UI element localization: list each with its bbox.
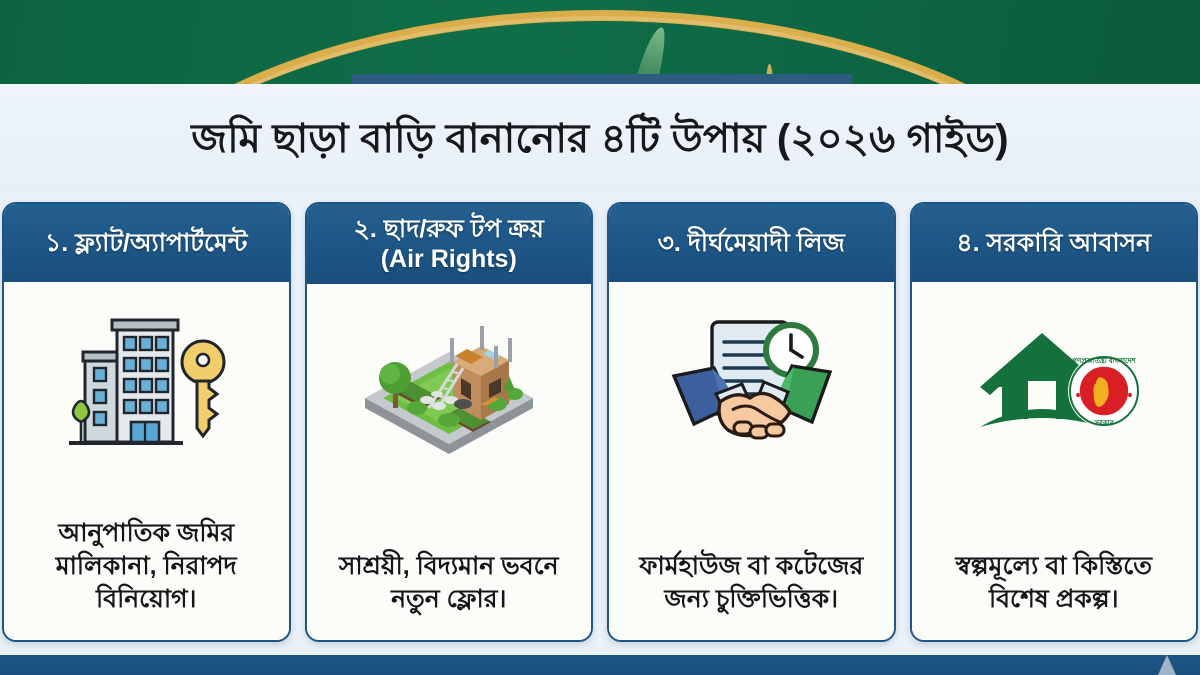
card-header: ৩. দীর্ঘমেয়াদী লিজ (609, 204, 894, 282)
card-body: আনুপাতিক জমির মালিকানা, নিরাপদ বিনিয়োগ। (4, 282, 289, 640)
card-heading: ৪. সরকারি আবাসন (956, 228, 1151, 258)
card-long-term-lease[interactable]: ৩. দীর্ঘমেয়াদী লিজ (607, 202, 896, 642)
footer-bar (0, 655, 1200, 675)
card-description: ফার্মহাউজ বা কটেজের জন্য চুক্তিভিত্তিক। (619, 550, 884, 622)
card-body: ফার্মহাউজ বা কটেজের জন্য চুক্তিভিত্তিক। (609, 282, 894, 640)
card-government-housing[interactable]: ৪. সরকারি আবাসন (910, 202, 1199, 642)
card-body: গণপ্রজাতন্ত্রী বাংলাদেশ সরকার স্বল্পমূল্… (912, 282, 1197, 640)
handshake-contract-clock-icon (619, 302, 884, 467)
card-heading: ১. ফ্ল্যাট/অ্যাপার্টমেন্ট (45, 228, 247, 258)
card-flat-apartment[interactable]: ১. ফ্ল্যাট/অ্যাপার্টমেন্ট (2, 202, 291, 642)
card-rooftop-air-rights[interactable]: ২. ছাদ/রুফ টপ ক্রয় (Air Rights) (305, 202, 594, 642)
title-section: জমি ছাড়া বাড়ি বানানোর ৪টি উপায় (২০২৬ … (0, 84, 1200, 194)
card-header: ১. ফ্ল্যাট/অ্যাপার্টমেন্ট (4, 204, 289, 282)
card-heading: ২. ছাদ/রুফ টপ ক্রয় (354, 215, 544, 243)
seal-bottom-text: সরকার (1093, 419, 1114, 427)
apartment-building-key-icon (14, 302, 279, 467)
government-housing-seal-icon: গণপ্রজাতন্ত্রী বাংলাদেশ সরকার (922, 302, 1187, 467)
card-heading-sub: (Air Rights) (354, 244, 544, 274)
banner-accent-bar (352, 74, 852, 84)
footer-triangle-decoration (1158, 655, 1176, 675)
page-title: জমি ছাড়া বাড়ি বানানোর ৪টি উপায় (২০২৬ … (191, 116, 1009, 162)
rooftop-garden-isometric-icon (317, 304, 582, 469)
cards-row: ১. ফ্ল্যাট/অ্যাপার্টমেন্ট (0, 202, 1200, 642)
card-description: সাশ্রয়ী, বিদ্যমান ভবনে নতুন ফ্লোর। (317, 550, 582, 622)
card-header: ২. ছাদ/রুফ টপ ক্রয় (Air Rights) (307, 204, 592, 284)
card-description: স্বল্পমূল্যে বা কিস্তিতে বিশেষ প্রকল্প। (922, 550, 1187, 622)
card-header: ৪. সরকারি আবাসন (912, 204, 1197, 282)
card-body: সাশ্রয়ী, বিদ্যমান ভবনে নতুন ফ্লোর। (307, 284, 592, 640)
card-description: আনুপাতিক জমির মালিকানা, নিরাপদ বিনিয়োগ। (14, 517, 279, 622)
top-banner (0, 0, 1200, 84)
card-heading: ৩. দীর্ঘমেয়াদী লিজ (658, 228, 845, 258)
